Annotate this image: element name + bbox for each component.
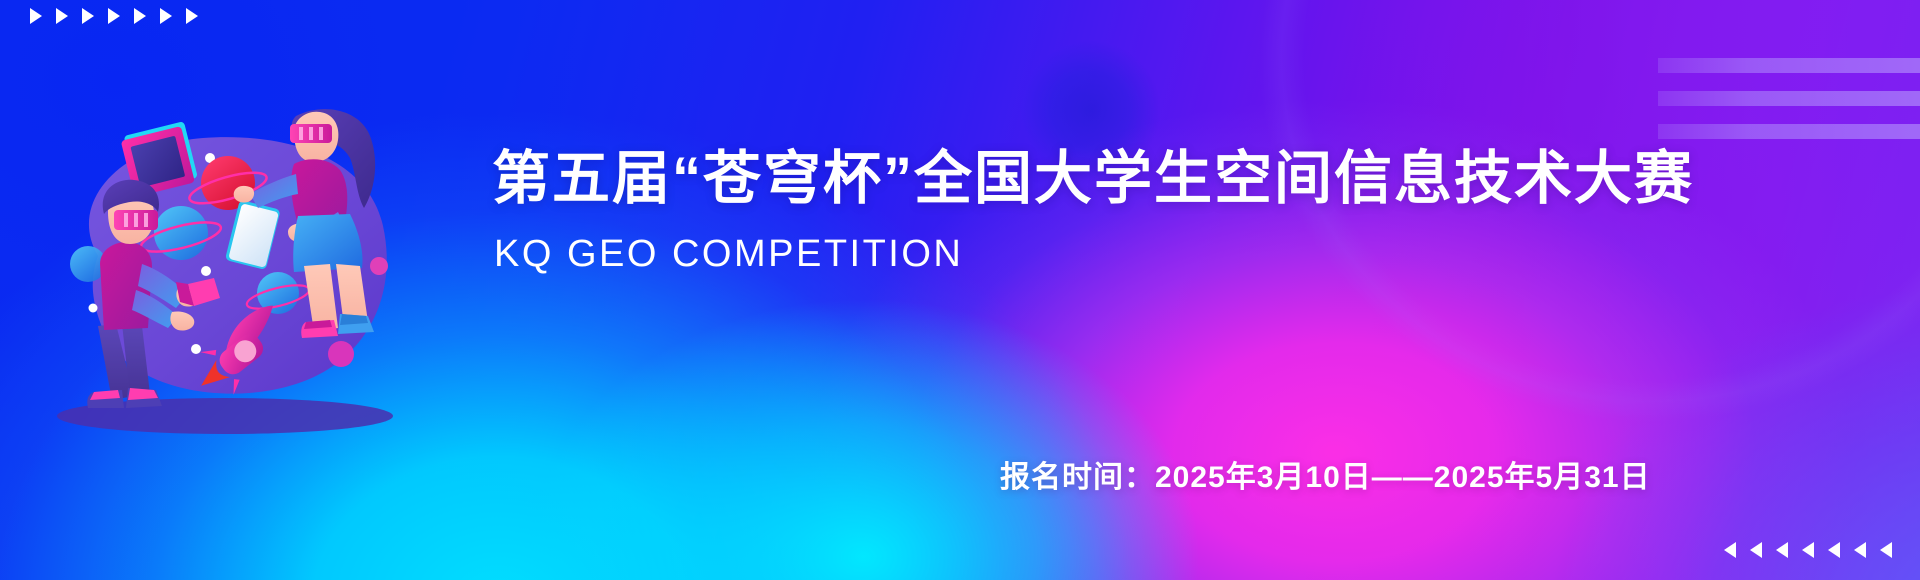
triangle-left-icon bbox=[1802, 542, 1814, 558]
banner-text-block: 第五届“苍穹杯”全国大学生空间信息技术大赛 KQ GEO COMPETITION bbox=[492, 148, 1822, 276]
girl-hand-pointing bbox=[234, 186, 254, 203]
triangle-left-icon bbox=[1776, 542, 1788, 558]
triangle-right-icon bbox=[108, 8, 120, 24]
decorative-stripes bbox=[1658, 58, 1920, 140]
registration-period: 报名时间：2025年3月10日——2025年5月31日 bbox=[1000, 452, 1651, 496]
star-dot bbox=[191, 344, 201, 354]
triangle-right-icon bbox=[82, 8, 94, 24]
triangle-right-icon bbox=[160, 8, 172, 24]
triangle-right-icon bbox=[56, 8, 68, 24]
vr-space-illustration bbox=[38, 96, 413, 446]
decorative-stripe bbox=[1658, 124, 1920, 139]
top-left-triangle-row bbox=[30, 8, 198, 24]
page-title: 第五届“苍穹杯”全国大学生空间信息技术大赛 bbox=[492, 148, 1822, 211]
triangle-right-icon bbox=[30, 8, 42, 24]
page-subtitle: KQ GEO COMPETITION bbox=[494, 233, 1822, 276]
competition-banner: 第五届“苍穹杯”全国大学生空间信息技术大赛 KQ GEO COMPETITION… bbox=[0, 0, 1920, 580]
triangle-right-icon bbox=[134, 8, 146, 24]
star-dot bbox=[201, 266, 211, 276]
small-pink-planet-icon bbox=[370, 257, 388, 275]
triangle-right-icon bbox=[186, 8, 198, 24]
triangle-left-icon bbox=[1854, 542, 1866, 558]
girl-skirt bbox=[293, 214, 362, 272]
triangle-left-icon bbox=[1828, 542, 1840, 558]
triangle-left-icon bbox=[1724, 542, 1736, 558]
small-pink-planet-icon bbox=[328, 341, 354, 367]
decorative-stripe bbox=[1658, 58, 1920, 73]
star-dot bbox=[89, 304, 98, 313]
triangle-left-icon bbox=[1750, 542, 1762, 558]
bottom-right-triangle-row bbox=[1724, 542, 1892, 558]
triangle-left-icon bbox=[1880, 542, 1892, 558]
decorative-stripe bbox=[1658, 91, 1920, 106]
